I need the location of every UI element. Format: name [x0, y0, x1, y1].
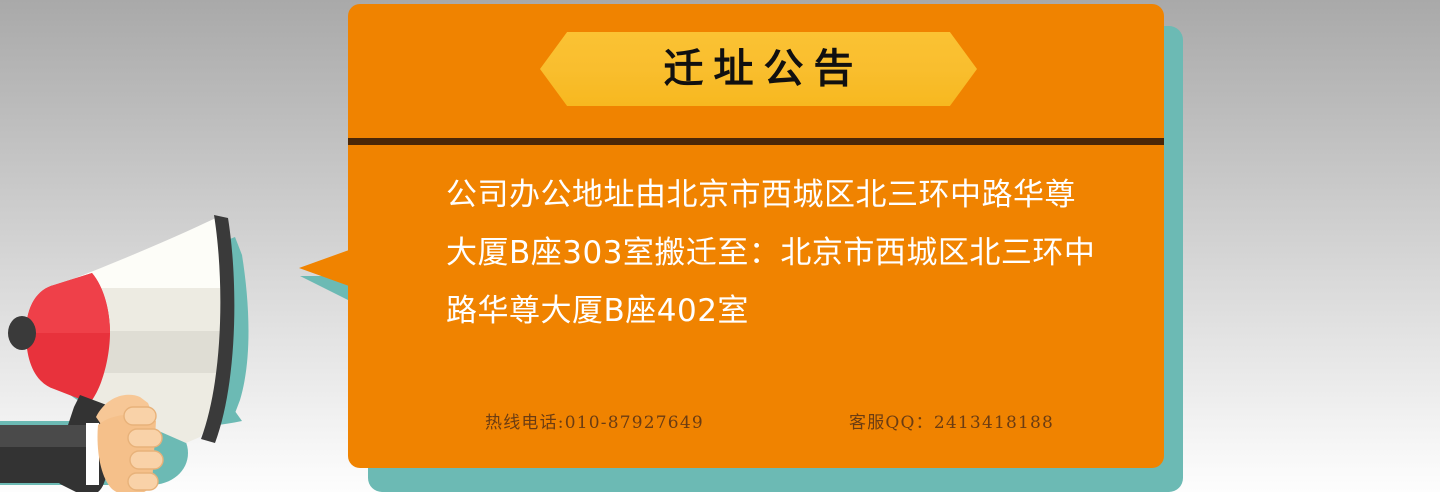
- announcement-body: 公司办公地址由北京市西城区北三环中路华尊大厦B座303室搬迁至：北京市西城区北三…: [446, 166, 1106, 340]
- suit-sleeve: [0, 423, 99, 485]
- contact-phone: 热线电话:010-87927649: [485, 408, 704, 433]
- divider: [348, 138, 1164, 145]
- title-ribbon: 迁址公告: [540, 32, 977, 106]
- hand: [96, 395, 163, 492]
- megaphone-body-red: [26, 273, 110, 403]
- announcement-banner: 迁址公告 公司办公地址由北京市西城区北三环中路华尊大厦B座303室搬迁至：北京市…: [0, 0, 1440, 492]
- megaphone-illustration: [0, 185, 350, 492]
- megaphone-nub: [8, 316, 36, 350]
- speech-tail: [299, 250, 349, 286]
- page-title: 迁址公告: [654, 49, 864, 89]
- contact-qq: 客服QQ：2413418188: [849, 408, 1054, 433]
